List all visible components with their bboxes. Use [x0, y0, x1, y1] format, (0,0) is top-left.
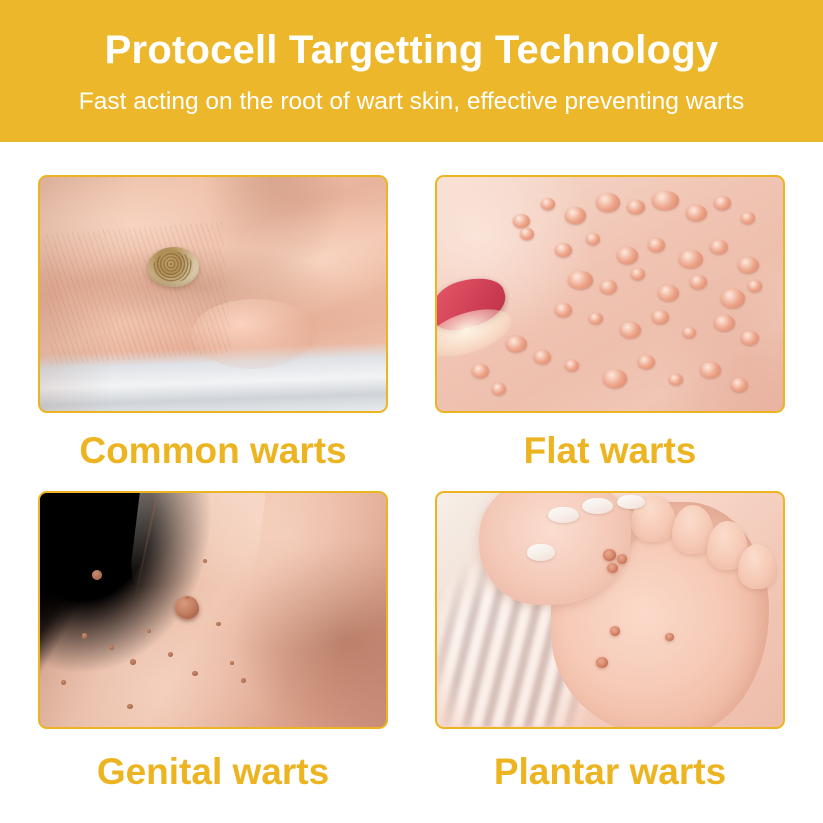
- hand-finger-common-wart-photo: [38, 175, 388, 413]
- wart-type-caption: Flat warts: [524, 432, 697, 469]
- common-wart-lesion: [147, 247, 199, 287]
- plantar-wart-2: [617, 554, 627, 564]
- skin-wrinkle-texture: [43, 222, 232, 365]
- plantar-wart-3: [607, 563, 618, 573]
- fingernail-3: [617, 495, 645, 509]
- plantar-wart-5: [665, 633, 673, 641]
- page-subtitle: Fast acting on the root of wart skin, ef…: [79, 87, 744, 116]
- wart-type-card-common: Common warts: [38, 175, 388, 491]
- neck-shoulder-genital-warts-photo: [38, 491, 388, 729]
- wart-type-caption: Genital warts: [97, 753, 329, 790]
- page-title: Protocell Targetting Technology: [105, 29, 719, 71]
- wart-type-caption: Plantar warts: [494, 753, 726, 790]
- wart-type-card-genital: Genital warts: [38, 491, 388, 807]
- plantar-wart-6: [596, 657, 608, 668]
- fingernail-2: [582, 498, 613, 514]
- fingernail-1: [548, 507, 579, 523]
- plantar-wart-1: [603, 549, 615, 561]
- wart-type-card-plantar: Plantar warts: [435, 491, 785, 807]
- wart-types-grid: Common warts: [0, 175, 823, 823]
- header-banner: Protocell Targetting Technology Fast act…: [0, 0, 823, 142]
- foot-sole-plantar-warts-photo: [435, 491, 785, 729]
- fingernail-4: [527, 544, 555, 560]
- wart-type-card-flat: Flat warts: [435, 175, 785, 491]
- face-cheek-flat-warts-photo: [435, 175, 785, 413]
- toe-fifth: [738, 544, 776, 588]
- flat-wart-cluster: [437, 177, 783, 411]
- wart-type-caption: Common warts: [79, 432, 346, 469]
- skin-moles-group: [40, 493, 386, 727]
